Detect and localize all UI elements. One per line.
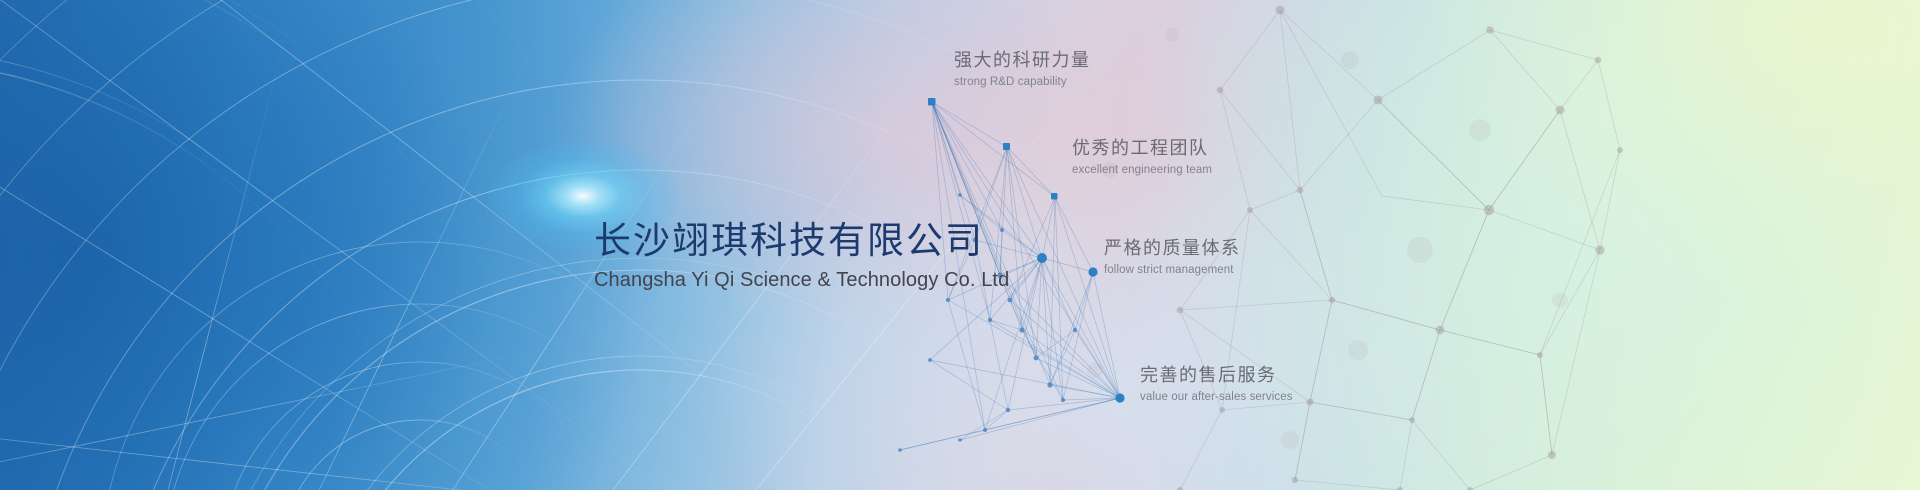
feature-label-cn: 完善的售后服务 (1140, 367, 1293, 385)
company-name-cn: 长沙翊琪科技有限公司 (594, 222, 1009, 259)
feature-label-en: follow strict management (1104, 265, 1241, 277)
feature-label-cn: 强大的科研力量 (954, 52, 1091, 70)
company-name-block: 长沙翊琪科技有限公司 Changsha Yi Qi Science & Tech… (594, 222, 1009, 290)
feature-item-after-sales: 完善的售后服务 value our after-sales services (1140, 367, 1293, 404)
feature-label-en: value our after-sales services (1140, 392, 1293, 404)
hero-banner: 长沙翊琪科技有限公司 Changsha Yi Qi Science & Tech… (0, 0, 1920, 490)
feature-item-engineering-team: 优秀的工程团队 excellent engineering team (1072, 140, 1212, 177)
feature-item-rnd: 强大的科研力量 strong R&D capability (954, 52, 1091, 89)
feature-label-en: excellent engineering team (1072, 165, 1212, 177)
feature-label-cn: 优秀的工程团队 (1072, 140, 1212, 158)
company-name-en: Changsha Yi Qi Science & Technology Co. … (594, 270, 1009, 290)
feature-label-en: strong R&D capability (954, 77, 1091, 89)
feature-item-quality-system: 严格的质量体系 follow strict management (1104, 240, 1241, 277)
feature-label-cn: 严格的质量体系 (1104, 240, 1241, 258)
